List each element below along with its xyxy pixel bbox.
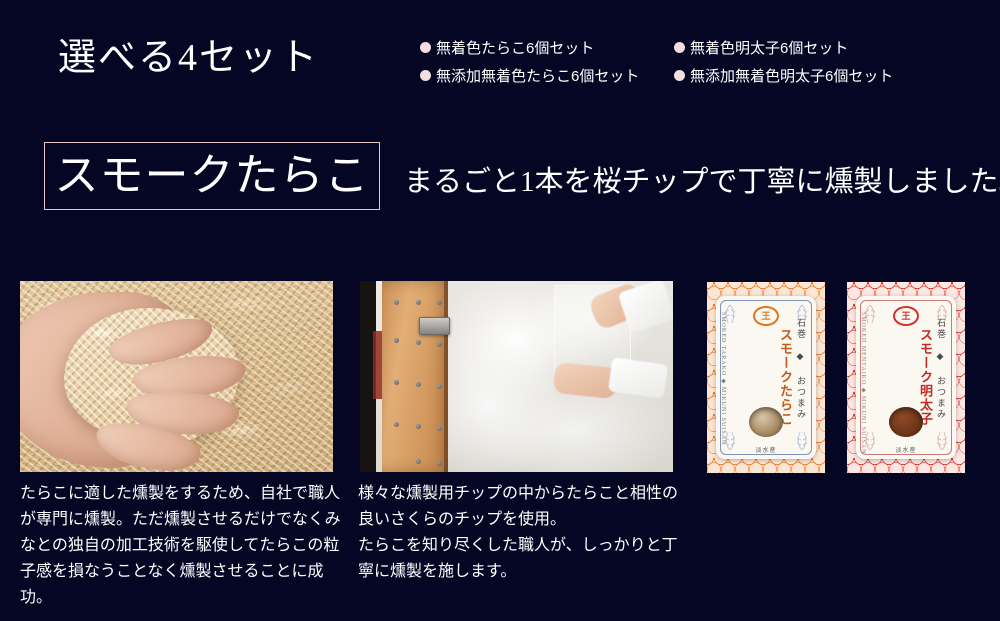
smoked-mentaiko-package[interactable]: 王 石巻 ◆ おつまみ スモーク明太子 SMOKED MENTAIKO ◆ MI…: [847, 282, 965, 473]
door-rivet: [416, 340, 421, 345]
package-label: 王 石巻 ◆ おつまみ スモーク明太子 SMOKED MENTAIKO ◆ MI…: [856, 296, 956, 459]
door-rivet: [394, 300, 399, 305]
door-rivet: [394, 338, 399, 343]
product-title: スモークたらこ: [55, 154, 370, 198]
package-window: [889, 407, 923, 437]
door-rivet: [416, 300, 421, 305]
door-rivet: [437, 300, 442, 305]
door-rivet: [416, 424, 421, 429]
wood-chips-photo: [20, 281, 333, 472]
door-rivet: [394, 380, 399, 385]
page-title: 選べる4セット: [58, 26, 319, 81]
door-rivet: [416, 382, 421, 387]
bullet-circle-icon: [420, 42, 431, 53]
package-footer: 淡水産: [716, 445, 816, 454]
smoker-interior-glow: [373, 331, 382, 400]
package-origin: 石巻 ◆ おつまみ: [935, 318, 948, 420]
door-seam: [444, 281, 448, 472]
bullet-circle-icon: [420, 70, 431, 81]
door-rivet: [437, 342, 442, 347]
product-title-box: スモークたらこ: [44, 142, 380, 210]
package-origin: 石巻 ◆ おつまみ: [795, 318, 808, 420]
set-option-label: 無着色明太子6個セット: [690, 37, 848, 58]
set-option-label: 無着色たらこ6個セット: [436, 37, 594, 58]
product-tagline: まるごと1本を桜チップで丁寧に燻製しました。: [404, 158, 1000, 200]
set-option-item[interactable]: 無着色明太子6個セット: [674, 37, 986, 58]
bullet-circle-icon: [674, 70, 685, 81]
set-options-list: 無着色たらこ6個セット 無着色明太子6個セット 無添加無着色たらこ6個セット 無…: [420, 33, 986, 89]
smoked-tarako-package[interactable]: 王 石巻 ◆ おつまみ スモークたらこ SMOKED TARAKO ◆ MIKU…: [707, 282, 825, 473]
set-option-label: 無添加無着色たらこ6個セット: [436, 65, 639, 86]
package-window: [749, 407, 783, 437]
smokehouse-caption: 様々な燻製用チップの中からたらこと相性の良いさくらのチップを使用。たらこを知り尽…: [358, 481, 688, 585]
bullet-circle-icon: [674, 42, 685, 53]
package-label: 王 石巻 ◆ おつまみ スモークたらこ SMOKED TARAKO ◆ MIKU…: [716, 296, 816, 459]
package-romaji: SMOKED TARAKO ◆ MIKUNI SUISAN: [720, 312, 727, 445]
set-option-item[interactable]: 無添加無着色たらこ6個セット: [420, 65, 674, 86]
set-option-label: 無添加無着色明太子6個セット: [690, 65, 893, 86]
door-latch-icon: [419, 317, 449, 334]
door-rivet: [437, 426, 442, 431]
package-footer: 淡水産: [856, 445, 956, 454]
door-rivet: [416, 459, 421, 464]
worker-arm: [553, 362, 618, 399]
smokehouse-photo: [360, 281, 673, 472]
wood-chips-caption: たらこに適した燻製をするため、自社で職人が専門に燻製。ただ燻製させるだけでなくみ…: [20, 481, 342, 611]
package-romaji: SMOKED MENTAIKO ◆ MIKUNI SUISAN: [860, 312, 867, 454]
door-rivet: [437, 384, 442, 389]
set-option-item[interactable]: 無添加無着色明太子6個セット: [674, 65, 986, 86]
door-rivet: [394, 422, 399, 427]
smoker-door: [382, 281, 448, 472]
set-option-item[interactable]: 無着色たらこ6個セット: [420, 37, 674, 58]
door-rivet: [437, 461, 442, 466]
promo-banner: 選べる4セット 無着色たらこ6個セット 無着色明太子6個セット 無添加無着色たら…: [0, 0, 1000, 621]
